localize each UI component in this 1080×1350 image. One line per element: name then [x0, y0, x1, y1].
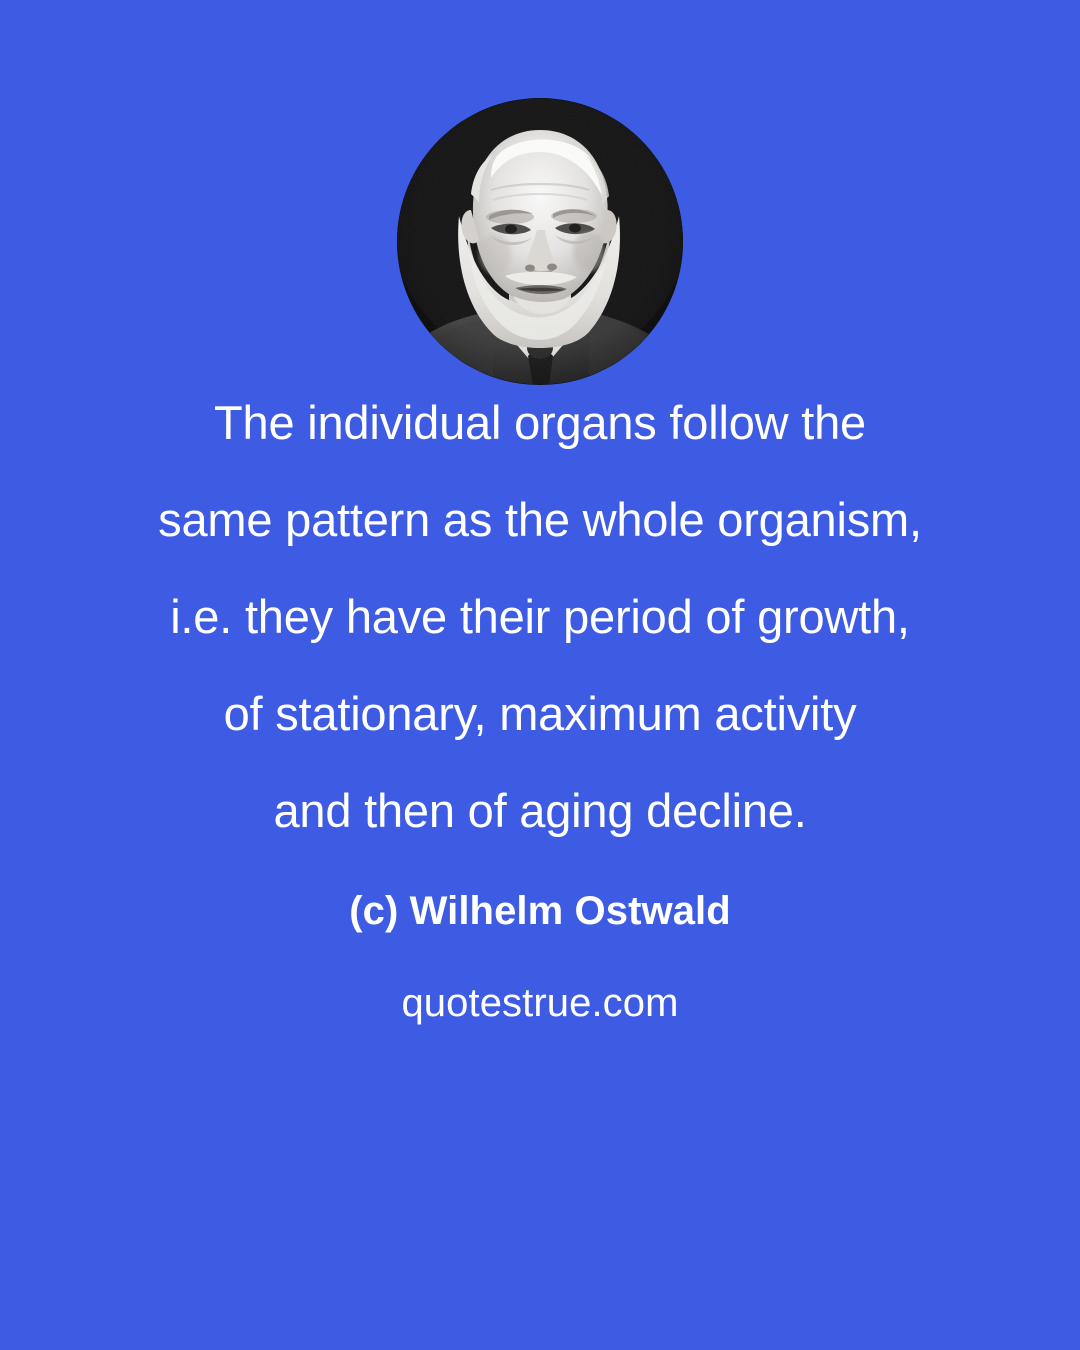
- quote-line: The individual organs follow the: [0, 374, 1080, 471]
- quote-attribution: (c) Wilhelm Ostwald: [0, 865, 1080, 957]
- quote-line: of stationary, maximum activity: [0, 665, 1080, 762]
- quote-line: and then of aging decline.: [0, 762, 1080, 859]
- quote-text-block: The individual organs follow the same pa…: [0, 374, 1080, 1049]
- quote-line: same pattern as the whole organism,: [0, 471, 1080, 568]
- quote-card: The individual organs follow the same pa…: [0, 0, 1080, 1350]
- author-portrait-container: [397, 98, 683, 385]
- author-portrait-photo: [397, 98, 683, 385]
- site-credit: quotestrue.com: [0, 957, 1080, 1049]
- quote-line: i.e. they have their period of growth,: [0, 568, 1080, 665]
